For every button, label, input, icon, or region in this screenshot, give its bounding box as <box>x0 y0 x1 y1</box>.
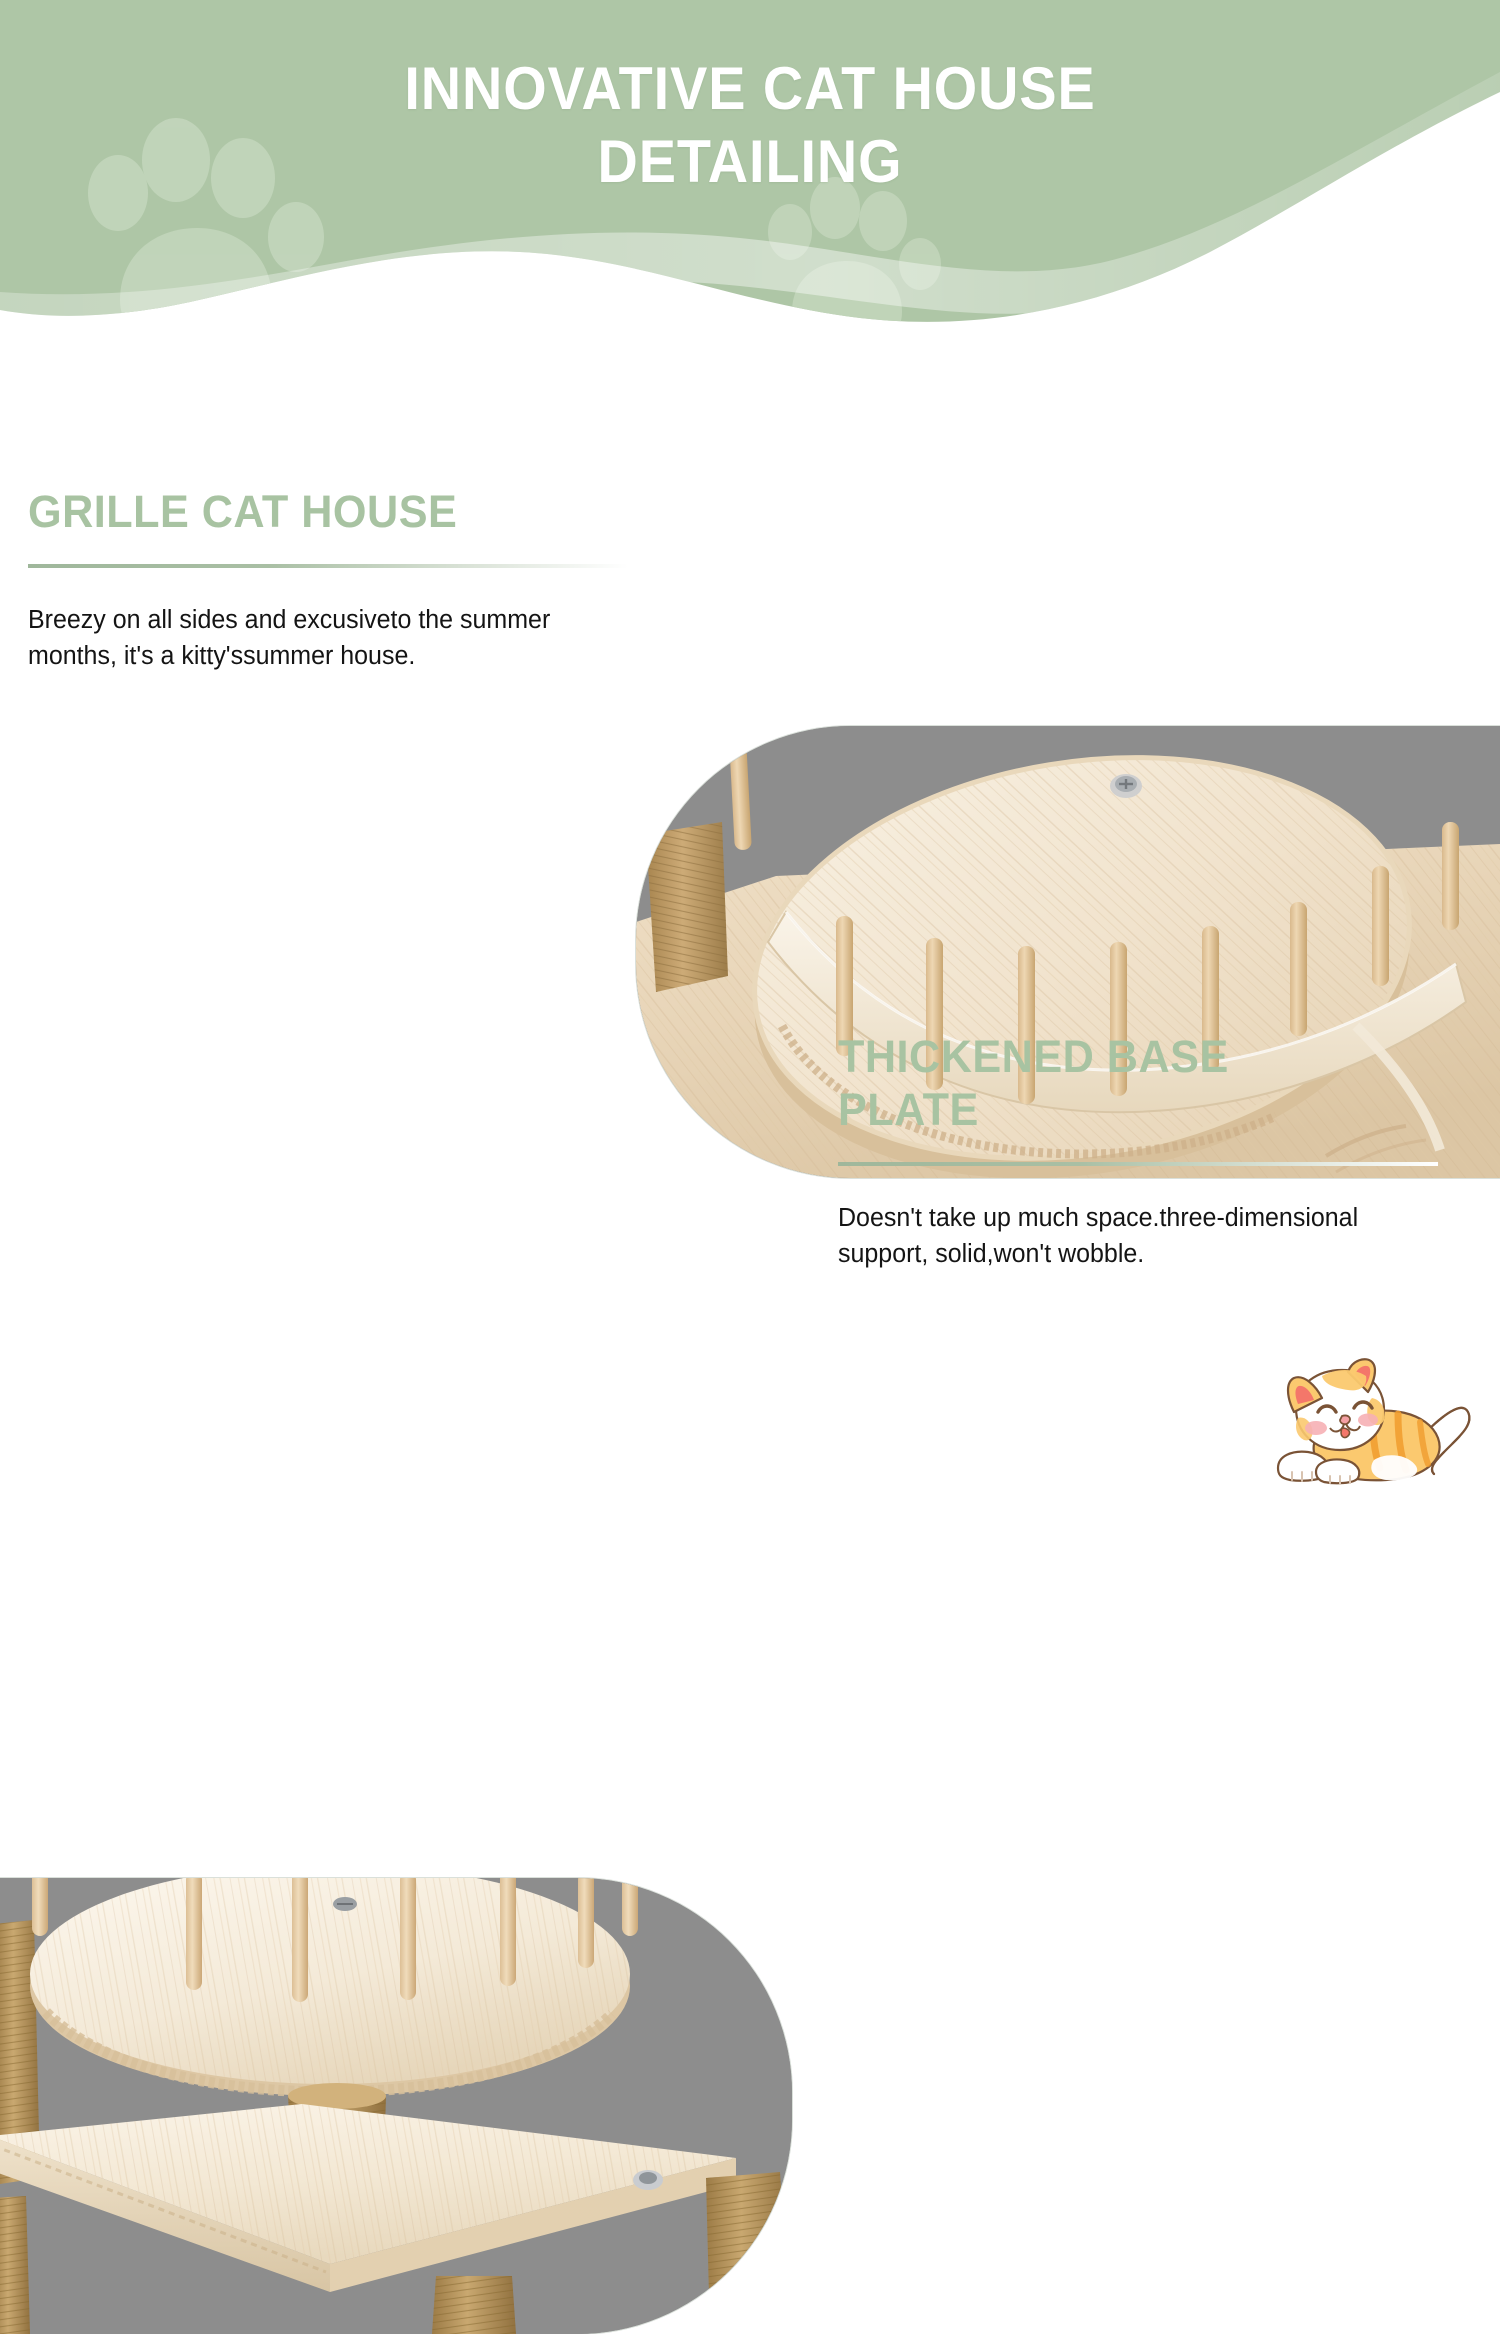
section-1-divider <box>28 564 628 568</box>
page-title-line-2: DETAILING <box>53 125 1448 198</box>
cartoon-kitten-illustration: .ol{stroke:#7a5336;stroke-width:2.2;stro… <box>1256 1356 1488 1488</box>
section-2-body: Doesn't take up much space.three-dimensi… <box>838 1200 1426 1272</box>
section-1-heading: GRILLE CAT HOUSE <box>28 485 604 538</box>
section-2-text-block: THICKENED BASE PLATE Doesn't take up muc… <box>838 1030 1458 1298</box>
section-2-divider <box>838 1162 1438 1166</box>
section-grille-cat-house: GRILLE CAT HOUSE Breezy on all sides and… <box>0 330 1500 930</box>
section-2-heading: THICKENED BASE PLATE <box>838 1030 1433 1136</box>
sisal-post <box>0 2196 30 2334</box>
screw-fixing <box>633 2170 663 2190</box>
cartoon-kitten-icon: .ol{stroke:#7a5336;stroke-width:2.2;stro… <box>1256 1356 1488 1488</box>
page-title-line-1: INNOVATIVE CAT HOUSE <box>404 55 1095 122</box>
thick-base-plate-closeup <box>0 1878 792 2334</box>
sisal-post <box>706 2172 790 2334</box>
section-1-text-block: GRILLE CAT HOUSE Breezy on all sides and… <box>28 485 628 700</box>
sisal-post <box>432 2276 516 2334</box>
screw-fixing <box>1110 774 1142 798</box>
section-1-body: Breezy on all sides and excusiveto the s… <box>28 602 616 674</box>
page-title: INNOVATIVE CAT HOUSE DETAILING <box>53 52 1448 198</box>
screw-fixing <box>333 1897 357 1911</box>
round-grille-platform <box>30 1878 630 2096</box>
section-2-photo <box>0 1878 792 2334</box>
header-banner: INNOVATIVE CAT HOUSE DETAILING <box>0 0 1500 330</box>
